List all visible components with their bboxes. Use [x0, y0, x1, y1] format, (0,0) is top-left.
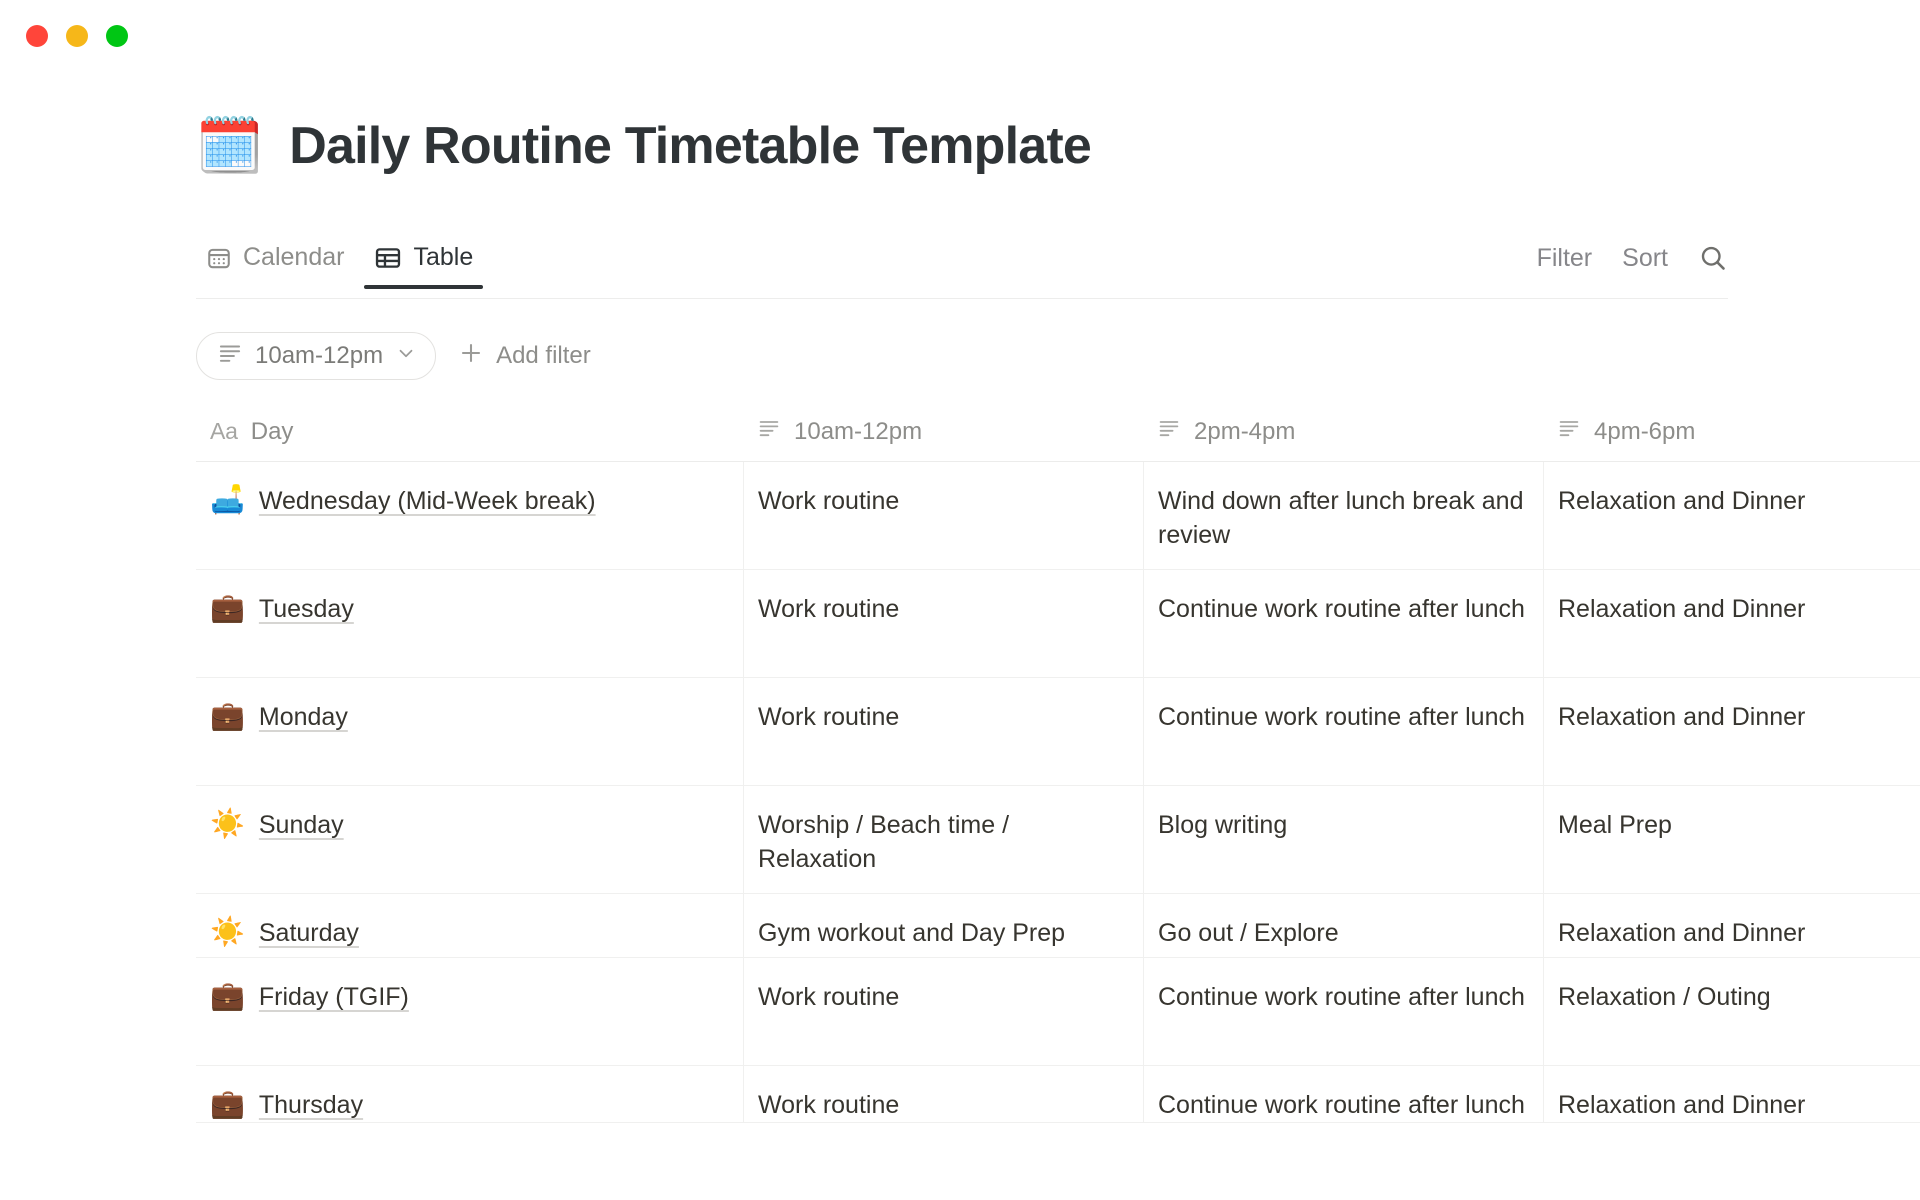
add-filter-label: Add filter [496, 342, 591, 370]
row-emoji: 🛋️ [210, 484, 245, 516]
title-property-icon: Aa [210, 418, 238, 445]
cell-text: Relaxation and Dinner [1558, 700, 1904, 734]
table-cell-day[interactable]: ☀️ Saturday [196, 894, 743, 957]
view-toolbar: Calendar Table Filter Sort [196, 243, 1728, 299]
row-day-link[interactable]: Tuesday [259, 592, 354, 626]
view-actions: Filter Sort [1537, 243, 1728, 288]
cell-text: Relaxation and Dinner [1558, 592, 1904, 626]
cell-text: Relaxation / Outing [1558, 980, 1904, 1014]
column-header-2pm-4pm-label: 2pm-4pm [1194, 418, 1295, 446]
cell-text: Worship / Beach time / Relaxation [758, 808, 1127, 876]
table-cell-10am-12pm[interactable]: Worship / Beach time / Relaxation [743, 786, 1143, 893]
sort-button[interactable]: Sort [1622, 244, 1668, 273]
table-cell-4pm-6pm[interactable]: Relaxation / Outing [1543, 958, 1920, 1065]
table-cell-10am-12pm[interactable]: Work routine [743, 958, 1143, 1065]
app-window: 🗓️ Daily Routine Timetable Template [0, 0, 1920, 1200]
table-cell-2pm-4pm[interactable]: Continue work routine after lunch [1143, 1066, 1543, 1122]
cell-text: Gym workout and Day Prep [758, 916, 1127, 950]
table-cell-10am-12pm[interactable]: Work routine [743, 570, 1143, 677]
filter-chip-label: 10am-12pm [255, 342, 383, 370]
calendar-icon [206, 245, 232, 271]
page-title: 🗓️ Daily Routine Timetable Template [196, 116, 1596, 176]
cell-text: Continue work routine after lunch [1158, 592, 1527, 626]
table-cell-4pm-6pm[interactable]: Relaxation and Dinner [1543, 678, 1920, 785]
column-header-4pm-6pm-label: 4pm-6pm [1594, 418, 1695, 446]
table-cell-day[interactable]: 💼 Tuesday [196, 570, 743, 677]
table-cell-day[interactable]: 💼 Monday [196, 678, 743, 785]
table-row[interactable]: ☀️ Sunday Worship / Beach time / Relaxat… [196, 786, 1920, 894]
window-controls [26, 25, 128, 47]
table-row[interactable]: 🛋️ Wednesday (Mid-Week break) Work routi… [196, 462, 1920, 570]
table-row[interactable]: 💼 Friday (TGIF) Work routine Continue wo… [196, 958, 1920, 1066]
cell-text: Go out / Explore [1158, 916, 1527, 950]
plus-icon [458, 340, 484, 373]
cell-text: Wind down after lunch break and review [1158, 484, 1527, 552]
table-cell-day[interactable]: 💼 Thursday [196, 1066, 743, 1122]
minimize-window-button[interactable] [66, 25, 88, 47]
cell-text: Work routine [758, 592, 1127, 626]
table-cell-2pm-4pm[interactable]: Continue work routine after lunch [1143, 958, 1543, 1065]
page-icon-emoji[interactable]: 🗓️ [196, 119, 263, 173]
close-window-button[interactable] [26, 25, 48, 47]
page-title-text[interactable]: Daily Routine Timetable Template [289, 116, 1091, 176]
maximize-window-button[interactable] [106, 25, 128, 47]
table-row[interactable]: ☀️ Saturday Gym workout and Day Prep Go … [196, 894, 1920, 958]
table-cell-4pm-6pm[interactable]: Relaxation and Dinner [1543, 570, 1920, 677]
row-day-link[interactable]: Friday (TGIF) [259, 980, 409, 1014]
cell-text: Work routine [758, 980, 1127, 1014]
table-cell-2pm-4pm[interactable]: Continue work routine after lunch [1143, 678, 1543, 785]
row-emoji: ☀️ [210, 916, 245, 948]
table-cell-2pm-4pm[interactable]: Blog writing [1143, 786, 1543, 893]
filter-chip-10am-12pm[interactable]: 10am-12pm [196, 332, 436, 380]
cell-text: Continue work routine after lunch [1158, 980, 1527, 1014]
tab-table-label: Table [413, 243, 473, 272]
column-header-day[interactable]: Aa Day [196, 402, 743, 461]
column-header-day-label: Day [251, 418, 294, 446]
chevron-down-icon [395, 342, 417, 371]
table-row[interactable]: 💼 Tuesday Work routine Continue work rou… [196, 570, 1920, 678]
column-header-2pm-4pm[interactable]: 2pm-4pm [1143, 402, 1543, 461]
table-cell-10am-12pm[interactable]: Work routine [743, 462, 1143, 569]
row-emoji: 💼 [210, 592, 245, 624]
table-row[interactable]: 💼 Monday Work routine Continue work rout… [196, 678, 1920, 786]
tab-calendar[interactable]: Calendar [196, 243, 354, 287]
filter-bar: 10am-12pm Add filter [196, 332, 605, 380]
table-cell-4pm-6pm[interactable]: Meal Prep [1543, 786, 1920, 893]
table-cell-4pm-6pm[interactable]: Relaxation and Dinner [1543, 1066, 1920, 1122]
database-table: Aa Day 10am-12pm [196, 402, 1920, 1123]
cell-text: Work routine [758, 700, 1127, 734]
cell-text: Work routine [758, 1088, 1127, 1122]
cell-text: Work routine [758, 484, 1127, 518]
cell-text: Relaxation and Dinner [1558, 484, 1904, 518]
table-cell-day[interactable]: 🛋️ Wednesday (Mid-Week break) [196, 462, 743, 569]
row-day-link[interactable]: Wednesday (Mid-Week break) [259, 484, 596, 518]
table-cell-4pm-6pm[interactable]: Relaxation and Dinner [1543, 462, 1920, 569]
row-day-link[interactable]: Thursday [259, 1088, 363, 1122]
cell-text: Relaxation and Dinner [1558, 916, 1904, 950]
table-icon [374, 244, 402, 272]
table-cell-10am-12pm[interactable]: Gym workout and Day Prep [743, 894, 1143, 957]
cell-text: Relaxation and Dinner [1558, 1088, 1904, 1122]
text-property-icon [1157, 416, 1181, 447]
column-header-10am-12pm-label: 10am-12pm [794, 418, 922, 446]
text-property-icon [217, 340, 243, 373]
table-cell-2pm-4pm[interactable]: Wind down after lunch break and review [1143, 462, 1543, 569]
filter-button[interactable]: Filter [1537, 244, 1593, 273]
table-cell-2pm-4pm[interactable]: Go out / Explore [1143, 894, 1543, 957]
text-property-icon [757, 416, 781, 447]
row-emoji: 💼 [210, 980, 245, 1012]
row-emoji: 💼 [210, 700, 245, 732]
row-day-link[interactable]: Sunday [259, 808, 344, 842]
table-header-row: Aa Day 10am-12pm [196, 402, 1920, 462]
table-cell-day[interactable]: ☀️ Sunday [196, 786, 743, 893]
view-tabs: Calendar Table [196, 243, 483, 287]
text-property-icon [1557, 416, 1581, 447]
cell-text: Continue work routine after lunch [1158, 1088, 1527, 1122]
table-row[interactable]: 💼 Thursday Work routine Continue work ro… [196, 1066, 1920, 1123]
row-day-link[interactable]: Saturday [259, 916, 359, 950]
column-header-4pm-6pm[interactable]: 4pm-6pm [1543, 402, 1920, 461]
cell-text: Blog writing [1158, 808, 1527, 842]
window-titlebar [0, 0, 1920, 74]
row-day-link[interactable]: Monday [259, 700, 348, 734]
table-cell-10am-12pm[interactable]: Work routine [743, 678, 1143, 785]
tab-calendar-label: Calendar [243, 243, 344, 272]
cell-text: Continue work routine after lunch [1158, 700, 1527, 734]
row-emoji: 💼 [210, 1088, 245, 1120]
table-cell-2pm-4pm[interactable]: Continue work routine after lunch [1143, 570, 1543, 677]
table-cell-day[interactable]: 💼 Friday (TGIF) [196, 958, 743, 1065]
search-icon[interactable] [1698, 243, 1728, 273]
column-header-10am-12pm[interactable]: 10am-12pm [743, 402, 1143, 461]
row-emoji: ☀️ [210, 808, 245, 840]
table-cell-4pm-6pm[interactable]: Relaxation and Dinner [1543, 894, 1920, 957]
table-cell-10am-12pm[interactable]: Work routine [743, 1066, 1143, 1122]
add-filter-button[interactable]: Add filter [444, 332, 605, 380]
cell-text: Meal Prep [1558, 808, 1904, 842]
tab-table[interactable]: Table [364, 243, 483, 287]
